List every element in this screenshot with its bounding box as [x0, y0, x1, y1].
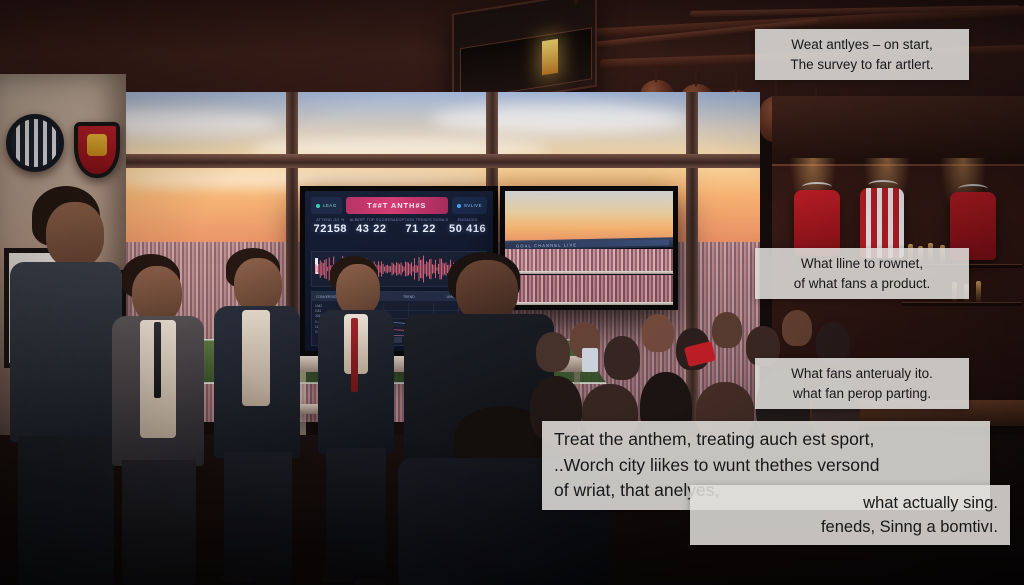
person-standing-presenter — [318, 256, 398, 585]
merch-jersey — [794, 190, 840, 256]
caption-tail: what actually sing. feneds, Sinng a bomt… — [690, 485, 1010, 545]
caption-middle: What lline to rownet, of what fans a pro… — [755, 248, 969, 299]
kpi-row: ATTEND GO % 72158 ALBERT TOP SCORES 43 2… — [311, 218, 487, 248]
live-chip-label: SVLIVE — [464, 203, 482, 208]
person-standing — [10, 186, 120, 585]
dashboard-header: LEAG T##T ANTH#S SVLIVE — [311, 197, 487, 214]
kpi-tile: ADOPTION TRENDS SIGNLS 71 22 — [393, 218, 448, 248]
kpi-value: 72158 — [311, 223, 350, 235]
phone-icon — [582, 348, 598, 372]
projector-mount-arm — [574, 0, 578, 4]
kpi-value: 43 22 — [350, 223, 393, 235]
kpi-tile: ALBERT TOP SCORES 43 22 — [350, 218, 393, 248]
screenshot-root: LEAG T##T ANTH#S SVLIVE ATTEND GO % 7215… — [0, 0, 1024, 585]
live-chip[interactable]: SVLIVE — [452, 197, 487, 214]
club-crest-round-icon — [6, 114, 64, 172]
status-dot-icon — [316, 204, 320, 208]
league-chip-label: LEAG — [323, 203, 337, 208]
projector-housing — [460, 27, 592, 100]
overhead-cabinet — [772, 96, 1024, 166]
projector-lamp-icon — [542, 39, 558, 76]
club-crest-shield-icon — [74, 122, 120, 178]
person-standing-arms-crossed — [212, 248, 304, 585]
kpi-value: 71 22 — [393, 223, 448, 235]
broadcast-sky — [505, 191, 673, 243]
dashboard-title: T##T ANTH#S — [346, 197, 448, 214]
live-dot-icon — [457, 204, 461, 208]
kpi-tile: ENGAGED 50 416 — [448, 218, 487, 248]
kpi-tile: ATTEND GO % 72158 — [311, 218, 350, 248]
league-chip[interactable]: LEAG — [311, 197, 342, 214]
caption-top: Weat antlyes – on start, The survey to f… — [755, 29, 969, 80]
person-standing — [112, 254, 208, 585]
kpi-value: 50 416 — [448, 223, 487, 235]
caption-lower: What fans anterualy ito. what fan perop … — [755, 358, 969, 409]
bottle-shelf — [902, 302, 1022, 306]
